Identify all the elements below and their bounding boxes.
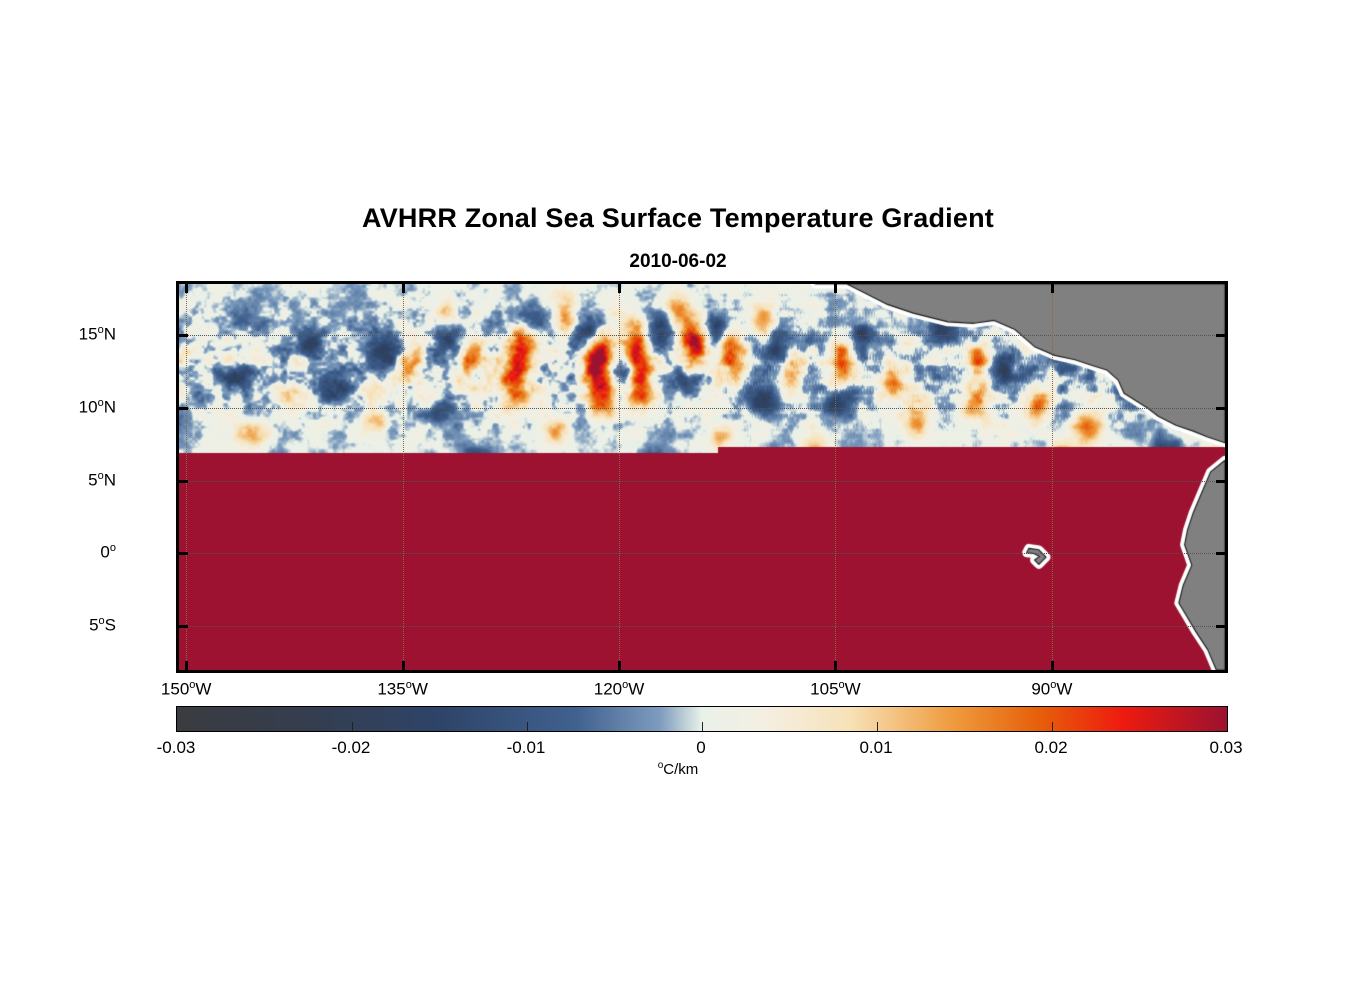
page-title: AVHRR Zonal Sea Surface Temperature Grad… — [0, 203, 1356, 234]
sst-gradient-heatmap — [179, 284, 1225, 670]
tick-mark-lon — [1051, 661, 1054, 670]
tick-mark-lat — [179, 334, 188, 337]
tick-mark-lon — [402, 284, 405, 293]
y-tick-label: 5oS — [89, 615, 116, 636]
tick-mark-lon — [402, 661, 405, 670]
colorbar — [176, 706, 1228, 732]
y-tick-label: 10oN — [79, 397, 116, 418]
colorbar-tick — [527, 722, 528, 731]
tick-mark-lon — [185, 661, 188, 670]
figure-canvas: AVHRR Zonal Sea Surface Temperature Grad… — [0, 0, 1356, 1000]
y-tick-label: 15oN — [79, 324, 116, 345]
tick-mark-lat — [179, 407, 188, 410]
colorbar-tick — [352, 722, 353, 731]
colorbar-tick — [877, 722, 878, 731]
tick-mark-lat — [179, 625, 188, 628]
y-tick-label: 0o — [100, 542, 116, 563]
tick-mark-lon — [834, 284, 837, 293]
tick-mark-lat — [179, 552, 188, 555]
tick-mark-lat — [1216, 552, 1225, 555]
x-tick-label: 90oW — [1031, 679, 1072, 700]
colorbar-tick-label: 0.01 — [859, 738, 892, 758]
tick-mark-lat — [179, 480, 188, 483]
colorbar-tick-label: -0.01 — [507, 738, 546, 758]
x-tick-label: 120oW — [594, 679, 645, 700]
tick-mark-lat — [1216, 334, 1225, 337]
colorbar-tick-label: 0 — [696, 738, 705, 758]
colorbar-tick — [702, 722, 703, 731]
x-tick-label: 150oW — [161, 679, 212, 700]
x-tick-label: 105oW — [810, 679, 861, 700]
y-tick-label: 5oN — [88, 470, 116, 491]
tick-mark-lon — [618, 284, 621, 293]
tick-mark-lat — [1216, 480, 1225, 483]
x-tick-label: 135oW — [377, 679, 428, 700]
tick-mark-lon — [834, 661, 837, 670]
tick-mark-lon — [185, 284, 188, 293]
tick-mark-lat — [1216, 407, 1225, 410]
colorbar-tick-label: 0.02 — [1034, 738, 1067, 758]
tick-mark-lon — [1051, 284, 1054, 293]
colorbar-tick-label: 0.03 — [1209, 738, 1242, 758]
map-axes — [176, 281, 1228, 673]
colorbar-tick — [1052, 722, 1053, 731]
tick-mark-lat — [1216, 625, 1225, 628]
colorbar-tick-label: -0.02 — [332, 738, 371, 758]
colorbar-unit-label: oC/km — [0, 760, 1356, 778]
figure-date-subtitle: 2010-06-02 — [0, 251, 1356, 273]
tick-mark-lon — [618, 661, 621, 670]
colorbar-tick-label: -0.03 — [157, 738, 196, 758]
